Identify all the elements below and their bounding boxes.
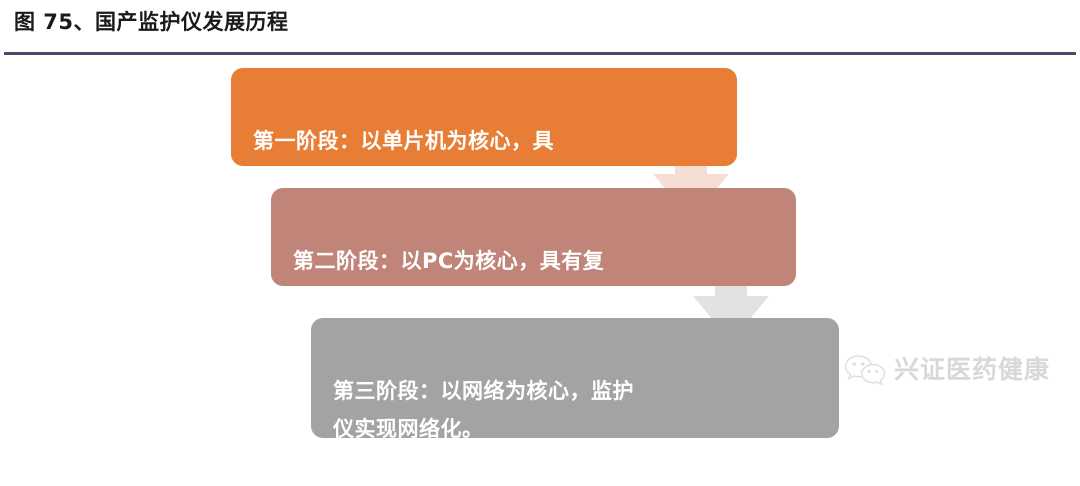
stage-box-3[interactable]: 第三阶段：以网络为核心，监护 仪实现网络化。 <box>311 318 839 438</box>
process-flow-diagram: 第一阶段：以单片机为核心，具 有简单软件的监护仪。 第二阶段：以PC为核心，具有… <box>0 56 1080 422</box>
stage-3-text: 第三阶段：以网络为核心，监护 仪实现网络化。 <box>333 372 817 448</box>
page-title: 图 75、国产监护仪发展历程 <box>14 7 289 37</box>
title-divider <box>4 52 1076 55</box>
stage-box-2[interactable]: 第二阶段：以PC为核心，具有复 杂软件的监护仪。 <box>271 188 796 286</box>
stage-box-1[interactable]: 第一阶段：以单片机为核心，具 有简单软件的监护仪。 <box>231 68 737 166</box>
stage-1-text: 第一阶段：以单片机为核心，具 有简单软件的监护仪。 <box>253 122 715 198</box>
stage-2-text: 第二阶段：以PC为核心，具有复 杂软件的监护仪。 <box>293 242 774 318</box>
